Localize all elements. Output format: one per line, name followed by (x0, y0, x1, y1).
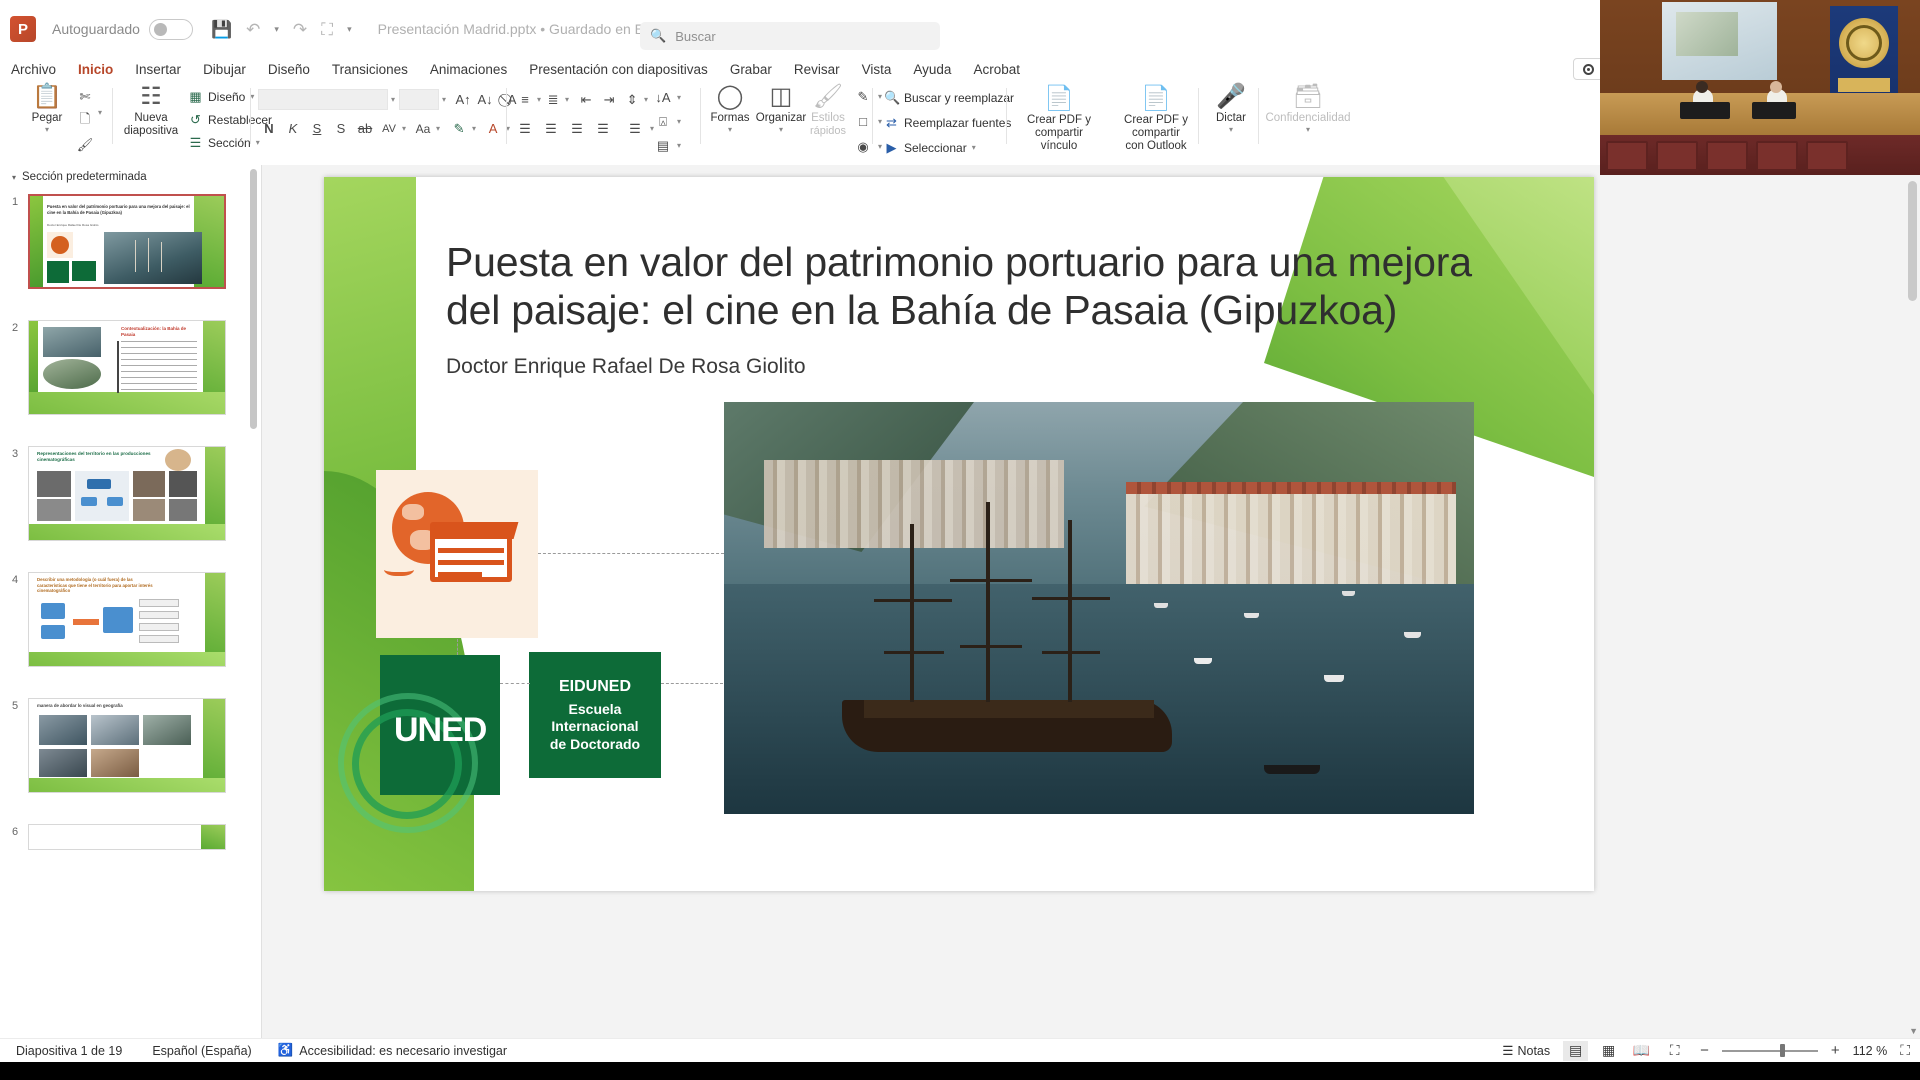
tab-animaciones[interactable]: Animaciones (419, 58, 518, 82)
panel-scrollbar[interactable] (250, 169, 257, 429)
create-pdf-outlook-label-1: Crear PDF y compartir (1104, 114, 1208, 140)
align-center-icon[interactable]: ☰ (540, 118, 562, 139)
shapes-label: Formas (711, 112, 750, 125)
character-spacing-button[interactable]: AV (378, 118, 400, 139)
shape-outline-icon[interactable]: □ (852, 111, 874, 132)
find-replace-label: Buscar y reemplazar (904, 91, 1014, 105)
bullets-chevron-down-icon[interactable]: ▾ (537, 95, 541, 104)
eiduned-logo-box: EIDUNED Escuela Internacional de Doctora… (529, 652, 661, 778)
new-slide-label: Nueva (134, 112, 167, 125)
uned-wordmark: UNED (394, 711, 486, 750)
quick-styles-label-2: rápidos (810, 125, 846, 138)
thumbnail-6[interactable] (28, 824, 226, 850)
zoom-slider[interactable] (1722, 1044, 1818, 1058)
separator-1 (112, 88, 113, 144)
record-icon (1583, 64, 1594, 75)
dictate-label: Dictar (1216, 112, 1246, 125)
convert-to-smartart-icon[interactable]: ▤ (652, 135, 674, 156)
current-slide[interactable]: Puesta en valor del patrimonio portuario… (324, 177, 1594, 891)
shape-effects-icon[interactable]: ◉ (852, 136, 874, 157)
arrange-label: Organizar (756, 112, 807, 125)
separator-4 (700, 88, 701, 144)
thumbnail-item-1[interactable]: 1 Puesta en valor del patrimonio portuar… (0, 194, 261, 290)
canvas-scroll-down-icon[interactable]: ▼ (1909, 1026, 1918, 1036)
tab-vista[interactable]: Vista (851, 58, 903, 82)
numbered-list-icon[interactable]: ≣ (542, 89, 564, 110)
connector-uned-to-eiduned (500, 683, 530, 684)
text-direction-icon[interactable]: ↓A (652, 87, 674, 108)
video-chair-5 (1806, 141, 1848, 171)
group-parrafo-extra: ↓A ▾ ⍓ ▾ ▤ ▾ (652, 82, 702, 146)
thumbnail-item-2[interactable]: 2 Contextualización: la Bahía de Pasaia (0, 320, 261, 416)
mini-title-2: Contextualización: la Bahía de Pasaia (121, 326, 191, 338)
align-text-icon[interactable]: ⍓ (652, 111, 674, 132)
group-edicion: 🔍 Buscar y reemplazar ⇄ Reemplazar fuent… (880, 82, 1002, 146)
group-adobe-acrobat: 📄 Crear PDF y compartir vínculo 📄 Crear … (1012, 82, 1198, 146)
cut-icon[interactable]: ✄ (74, 86, 96, 107)
accessibility-status[interactable]: ♿ Accesibilidad: es necesario investigar (278, 1043, 507, 1058)
layout-icon: ▦ (188, 89, 203, 105)
mini-title-3: Representaciones del territorio en las p… (37, 451, 177, 463)
thumbnail-number-1: 1 (8, 196, 22, 208)
eiduned-line-3: Internacional (551, 718, 638, 735)
slide-photo-pasaia[interactable] (724, 402, 1474, 814)
font-name-chevron-down-icon[interactable]: ▾ (391, 95, 395, 104)
font-size-chevron-down-icon[interactable]: ▾ (442, 95, 446, 104)
group-fuente: ▾ ▾ A↑ A↓ ⃠A N K S S ab AV ▾ Aa ▾ ✎ ▾ A … (256, 82, 506, 146)
separator-8 (1258, 88, 1259, 144)
thumbnail-number-5: 5 (8, 700, 22, 712)
dictate-chevron-down-icon[interactable]: ▾ (1229, 125, 1233, 134)
thumbnail-5[interactable]: manera de abordar lo visual en geografía (28, 698, 226, 793)
separator-6 (1006, 88, 1007, 144)
paste-label: Pegar (32, 112, 63, 125)
change-case-button[interactable]: Aa (412, 118, 434, 139)
slide-subtitle[interactable]: Doctor Enrique Rafael De Rosa Giolito (446, 355, 806, 379)
document-filename: Presentación Madrid.pptx (378, 21, 537, 37)
mini-slide-2: Contextualización: la Bahía de Pasaia (29, 321, 225, 414)
redo-icon[interactable]: ↷ (293, 21, 307, 38)
tab-insertar[interactable]: Insertar (124, 58, 192, 82)
canvas-scrollbar[interactable] (1908, 181, 1917, 301)
video-projection-screen (1662, 2, 1777, 80)
smartart-chevron-down-icon[interactable]: ▾ (677, 141, 681, 150)
slide-thumbnail-panel[interactable]: ▾ Sección predeterminada 1 Puesta en val… (0, 165, 262, 1038)
select-button[interactable]: ▶ Seleccionar ▾ (884, 138, 1014, 157)
accessibility-label: Accesibilidad: es necesario investigar (299, 1044, 507, 1058)
section-label: Sección (208, 136, 251, 150)
video-chair-4 (1756, 141, 1798, 171)
cinema-logo-box (376, 470, 538, 638)
line-spacing-chevron-down-icon[interactable]: ▾ (644, 95, 648, 104)
notes-label: Notas (1517, 1044, 1550, 1058)
thumbnail-number-6: 6 (8, 826, 22, 838)
video-overlay[interactable] (1600, 0, 1920, 175)
connector-cinema-to-uned (457, 639, 458, 655)
italic-button[interactable]: K (282, 118, 304, 139)
video-chair-2 (1656, 141, 1698, 171)
text-highlight-icon[interactable]: ✎ (448, 118, 470, 139)
view-buttons: ▤ ▦ 📖 ⛶ (1563, 1041, 1687, 1061)
line-spacing-icon[interactable]: ⇕ (621, 89, 643, 110)
status-bar-right: ☰ Notas ▤ ▦ 📖 ⛶ − + 112 % ⛶ (1502, 1041, 1910, 1061)
quick-access-toolbar: 💾 ↶ ▾ ↷ ⛶ ▾ (211, 21, 352, 38)
shapes-chevron-down-icon[interactable]: ▾ (728, 125, 732, 134)
create-pdf-outlook-button[interactable]: 📄 Crear PDF y compartir con Outlook (1104, 86, 1208, 154)
section-name: Sección predeterminada (22, 171, 147, 183)
mini-title-4: Describir una metodología (o cuál fuera)… (37, 577, 157, 594)
increase-indent-icon[interactable]: ⇥ (598, 89, 620, 110)
mini-slide-6 (29, 825, 225, 849)
quick-styles-icon: 🖌 (813, 84, 843, 110)
bottom-black-bar (0, 1062, 1920, 1080)
eiduned-line-2: Escuela (569, 701, 622, 718)
quick-styles-label-1: Estilos (811, 112, 845, 125)
replace-fonts-button[interactable]: ⇄ Reemplazar fuentes (884, 113, 1014, 132)
shape-fill-icon[interactable]: ✎ (852, 86, 874, 107)
notes-icon: ☰ (1502, 1043, 1513, 1058)
group-diapositivas: ☷ Nueva diapositiva ▦ Diseño ▾ ↺ Restabl… (120, 82, 248, 146)
start-slideshow-icon[interactable]: ⛶ (321, 21, 333, 38)
mini-subtitle-1: Doctor Enrique Rafael De Rosa Giolito (47, 223, 98, 227)
zoom-level-label[interactable]: 112 % (1853, 1044, 1888, 1058)
text-shadow-button[interactable]: S (330, 118, 352, 139)
replace-fonts-label: Reemplazar fuentes (904, 116, 1011, 130)
bold-button[interactable]: N (258, 118, 280, 139)
tab-acrobat[interactable]: Acrobat (962, 58, 1031, 82)
find-replace-button[interactable]: 🔍 Buscar y reemplazar (884, 88, 1014, 107)
create-pdf-link-label-1: Crear PDF y (1027, 114, 1091, 127)
autosave-label: Autoguardado (52, 21, 140, 37)
dictate-button[interactable]: 🎤 Dictar ▾ (1208, 84, 1254, 134)
mini-title-5: manera de abordar lo visual en geografía (37, 703, 167, 708)
character-spacing-chevron-down-icon[interactable]: ▾ (402, 124, 406, 133)
tab-inicio[interactable]: Inicio (67, 58, 124, 82)
search-box[interactable]: 🔍 Buscar (640, 22, 940, 50)
tab-dibujar[interactable]: Dibujar (192, 58, 257, 82)
separator-3 (506, 88, 507, 144)
highlight-chevron-down-icon[interactable]: ▾ (472, 124, 476, 133)
normal-view-icon[interactable]: ▤ (1563, 1041, 1588, 1061)
mini-slide-4: Describir una metodología (o cuál fuera)… (29, 573, 225, 666)
justify-icon[interactable]: ☰ (592, 118, 614, 139)
underline-button[interactable]: S (306, 118, 328, 139)
replace-fonts-icon: ⇄ (884, 115, 899, 131)
font-size-input[interactable] (399, 89, 439, 110)
undo-chevron-down-icon[interactable]: ▾ (274, 24, 279, 35)
section-collapse-triangle-icon[interactable]: ▾ (12, 173, 16, 182)
align-left-icon[interactable]: ☰ (514, 118, 536, 139)
numbering-chevron-down-icon[interactable]: ▾ (565, 95, 569, 104)
align-right-icon[interactable]: ☰ (566, 118, 588, 139)
bullet-list-icon[interactable]: ≡ (514, 89, 536, 110)
separator-5 (872, 88, 873, 144)
create-pdf-link-label-2: compartir vínculo (1018, 127, 1100, 153)
powerpoint-logo: P (10, 16, 36, 42)
globe-clapperboard-icon (376, 470, 538, 638)
reset-icon: ↺ (188, 112, 203, 128)
uned-logo-box: UNED (380, 655, 500, 795)
create-pdf-link-icon: 📄 (1044, 86, 1074, 112)
language-indicator[interactable]: Español (España) (152, 1044, 251, 1058)
video-speaker-2-head (1770, 81, 1782, 93)
thumbnail-number-2: 2 (8, 322, 22, 334)
status-bar: Diapositiva 1 de 19 Español (España) ♿ A… (0, 1038, 1920, 1062)
thumbnail-item-4[interactable]: 4 Describir una metodología (o cuál fuer… (0, 572, 261, 668)
thumbnail-3[interactable]: Representaciones del territorio en las p… (28, 446, 226, 541)
layout-label: Diseño (208, 90, 245, 104)
paste-button[interactable]: 📋 Pegar ▾ (18, 84, 76, 134)
columns-icon[interactable]: ☰ (624, 118, 646, 139)
zoom-slider-track (1722, 1050, 1818, 1052)
sensitivity-icon: 🗃 (1293, 84, 1323, 110)
slide-canvas-area[interactable]: Puesta en valor del patrimonio portuario… (262, 165, 1920, 1038)
video-monitor-1 (1680, 102, 1730, 119)
create-pdf-outlook-icon: 📄 (1141, 86, 1171, 112)
reading-view-icon[interactable]: 📖 (1629, 1041, 1654, 1061)
group-voz: 🎤 Dictar ▾ (1204, 82, 1258, 146)
arrange-chevron-down-icon[interactable]: ▾ (779, 125, 783, 134)
change-case-chevron-down-icon[interactable]: ▾ (436, 124, 440, 133)
thumbnail-item-6[interactable]: 6 (0, 824, 261, 854)
thumbnail-4[interactable]: Describir una metodología (o cuál fuera)… (28, 572, 226, 667)
thumbnail-item-3[interactable]: 3 Representaciones del territorio en las… (0, 446, 261, 542)
group-dibujo: ◯ Formas ▾ ◫ Organizar ▾ 🖌 Estilos rápid… (706, 82, 866, 146)
new-slide-button[interactable]: ☷ Nueva diapositiva (120, 84, 182, 138)
slide-counter[interactable]: Diapositiva 1 de 19 (16, 1044, 122, 1058)
select-chevron-down-icon[interactable]: ▾ (972, 143, 976, 152)
mini-title-1: Puesta en valor del patrimonio portuario… (47, 204, 197, 215)
search-icon: 🔍 (650, 28, 666, 44)
video-speaker-1-head (1696, 81, 1708, 93)
zoom-out-button[interactable]: − (1700, 1042, 1709, 1059)
thumbnail-number-4: 4 (8, 574, 22, 586)
select-icon: ▶ (884, 140, 899, 156)
search-icon-edit: 🔍 (884, 90, 899, 106)
copy-icon[interactable]: 🗋 (74, 110, 96, 131)
align-text-chevron-down-icon[interactable]: ▾ (677, 117, 681, 126)
sensitivity-label: Confidencialidad (1265, 112, 1350, 125)
font-name-input[interactable] (258, 89, 388, 110)
select-label: Seleccionar (904, 141, 967, 155)
ribbon-tabs: Archivo Inicio Insertar Dibujar Diseño T… (0, 58, 1031, 82)
video-chair-3 (1706, 141, 1748, 171)
text-direction-chevron-down-icon[interactable]: ▾ (677, 93, 681, 102)
undo-icon[interactable]: ↶ (246, 21, 260, 38)
increase-font-size-icon[interactable]: A↑ (452, 89, 474, 110)
group-portapapeles: 📋 Pegar ▾ ✄ 🗋 🖌 ▾ (14, 82, 106, 146)
customize-qat-chevron-down-icon[interactable]: ▾ (347, 24, 352, 35)
video-seal-ring (1846, 25, 1882, 61)
notes-button[interactable]: ☰ Notas (1502, 1043, 1550, 1058)
slide-title[interactable]: Puesta en valor del patrimonio portuario… (446, 239, 1506, 334)
tab-diseno[interactable]: Diseño (257, 58, 321, 82)
paste-chevron-down-icon[interactable]: ▾ (45, 125, 49, 134)
strikethrough-button[interactable]: ab (354, 118, 376, 139)
thumbnail-item-5[interactable]: 5 manera de abordar lo visual en geograf… (0, 698, 261, 794)
decrease-font-size-icon[interactable]: A↓ (474, 89, 496, 110)
tab-grabar[interactable]: Grabar (719, 58, 783, 82)
accessibility-icon: ♿ (278, 1043, 294, 1058)
zoom-in-button[interactable]: + (1831, 1042, 1840, 1059)
mini-slide-3: Representaciones del territorio en las p… (29, 447, 225, 540)
create-pdf-share-link-button[interactable]: 📄 Crear PDF y compartir vínculo (1018, 86, 1100, 154)
quick-styles-button[interactable]: 🖌 Estilos rápidos (806, 84, 850, 138)
new-slide-label-2: diapositiva (124, 125, 178, 138)
connector-cinema-to-photo (538, 553, 724, 554)
arrange-icon: ◫ (770, 84, 793, 110)
separator-7 (1198, 88, 1199, 144)
thumbnail-2[interactable]: Contextualización: la Bahía de Pasaia (28, 320, 226, 415)
section-icon: ☰ (188, 135, 203, 151)
mini-slide-1: Puesta en valor del patrimonio portuario… (30, 196, 224, 287)
thumbnail-1[interactable]: Puesta en valor del patrimonio portuario… (28, 194, 226, 289)
search-input[interactable]: Buscar (675, 29, 715, 44)
clipboard-dropdown-chevron-icon[interactable]: ▾ (98, 108, 102, 117)
paste-icon: 📋 (32, 84, 62, 110)
section-header[interactable]: ▾ Sección predeterminada (0, 165, 261, 188)
group-confidencialidad: 🗃 Confidencialidad ▾ (1264, 82, 1354, 146)
video-projected-slide (1676, 12, 1738, 56)
microphone-icon: 🎤 (1216, 84, 1246, 110)
powerpoint-window: P Autoguardado 💾 ↶ ▾ ↷ ⛶ ▾ Presentación … (0, 0, 1920, 1080)
video-monitor-2 (1752, 102, 1796, 119)
video-banner-text-block (1838, 78, 1890, 92)
autosave-toggle[interactable] (149, 19, 193, 40)
save-icon[interactable]: 💾 (211, 21, 232, 38)
sensitivity-button[interactable]: 🗃 Confidencialidad ▾ (1268, 84, 1348, 134)
shapes-icon: ◯ (717, 84, 744, 110)
font-color-icon[interactable]: A (482, 118, 504, 139)
connector-eiduned-to-photo (661, 683, 723, 684)
eiduned-line-1: EIDUNED (559, 678, 631, 697)
tab-transiciones[interactable]: Transiciones (321, 58, 419, 82)
tab-ayuda[interactable]: Ayuda (902, 58, 962, 82)
new-slide-icon: ☷ (140, 84, 162, 110)
fit-to-window-icon[interactable]: ⛶ (1900, 1042, 1910, 1059)
slideshow-icon[interactable]: ⛶ (1662, 1041, 1687, 1061)
arrange-button[interactable]: ◫ Organizar ▾ (756, 84, 806, 134)
create-pdf-outlook-label-2: con Outlook (1125, 140, 1186, 153)
sensitivity-chevron-down-icon[interactable]: ▾ (1306, 125, 1310, 134)
zoom-slider-knob[interactable] (1780, 1044, 1785, 1057)
separator-2 (250, 88, 251, 144)
format-painter-icon[interactable]: 🖌 (74, 134, 96, 155)
video-chair-1 (1606, 141, 1648, 171)
eiduned-line-4: de Doctorado (550, 736, 640, 753)
tab-revisar[interactable]: Revisar (783, 58, 851, 82)
tab-archivo[interactable]: Archivo (0, 58, 67, 82)
shapes-button[interactable]: ◯ Formas ▾ (706, 84, 754, 134)
decrease-indent-icon[interactable]: ⇤ (575, 89, 597, 110)
slide-sorter-icon[interactable]: ▦ (1596, 1041, 1621, 1061)
mini-slide-5: manera de abordar lo visual en geografía (29, 699, 225, 792)
thumbnail-number-3: 3 (8, 448, 22, 460)
tab-presentacion[interactable]: Presentación con diapositivas (518, 58, 719, 82)
